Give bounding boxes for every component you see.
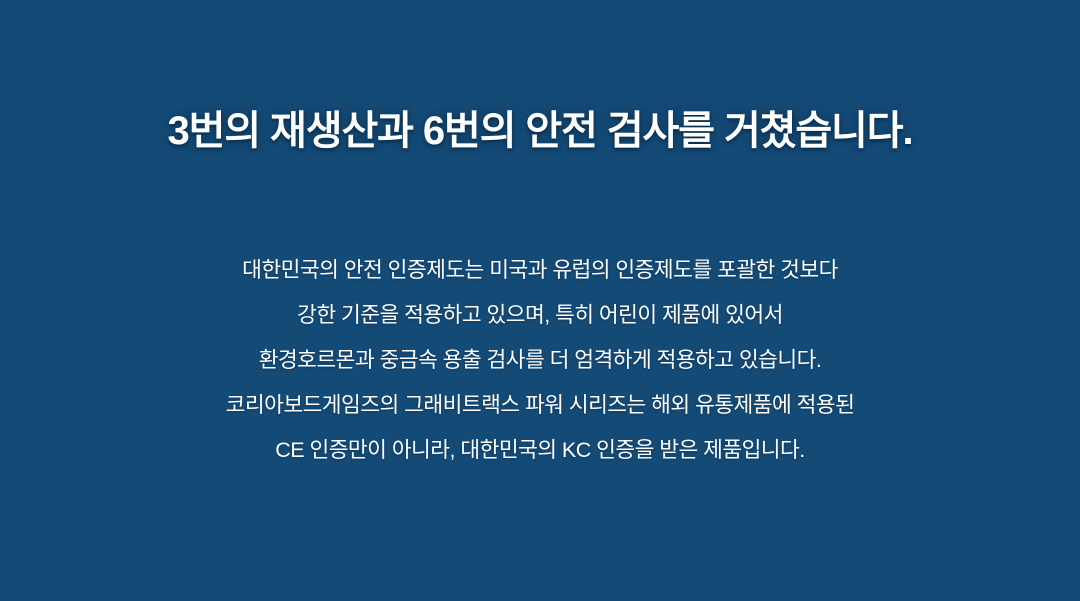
body-line-3: 환경호르몬과 중금속 용출 검사를 더 엄격하게 적용하고 있습니다. <box>0 338 1080 383</box>
safety-certification-banner: 3번의 재생산과 6번의 안전 검사를 거쳤습니다. 대한민국의 안전 인증제도… <box>0 0 1080 601</box>
body-line-2: 강한 기준을 적용하고 있으며, 특히 어린이 제품에 있어서 <box>0 293 1080 338</box>
banner-body-text: 대한민국의 안전 인증제도는 미국과 유럽의 인증제도를 포괄한 것보다 강한 … <box>0 248 1080 473</box>
headline-block: 3번의 재생산과 6번의 안전 검사를 거쳤습니다. <box>0 104 1080 158</box>
body-line-1: 대한민국의 안전 인증제도는 미국과 유럽의 인증제도를 포괄한 것보다 <box>0 248 1080 293</box>
body-line-4: 코리아보드게임즈의 그래비트랙스 파워 시리즈는 해외 유통제품에 적용된 <box>0 383 1080 428</box>
body-line-5: CE 인증만이 아니라, 대한민국의 KC 인증을 받은 제품입니다. <box>0 428 1080 473</box>
banner-headline: 3번의 재생산과 6번의 안전 검사를 거쳤습니다. <box>168 104 913 158</box>
